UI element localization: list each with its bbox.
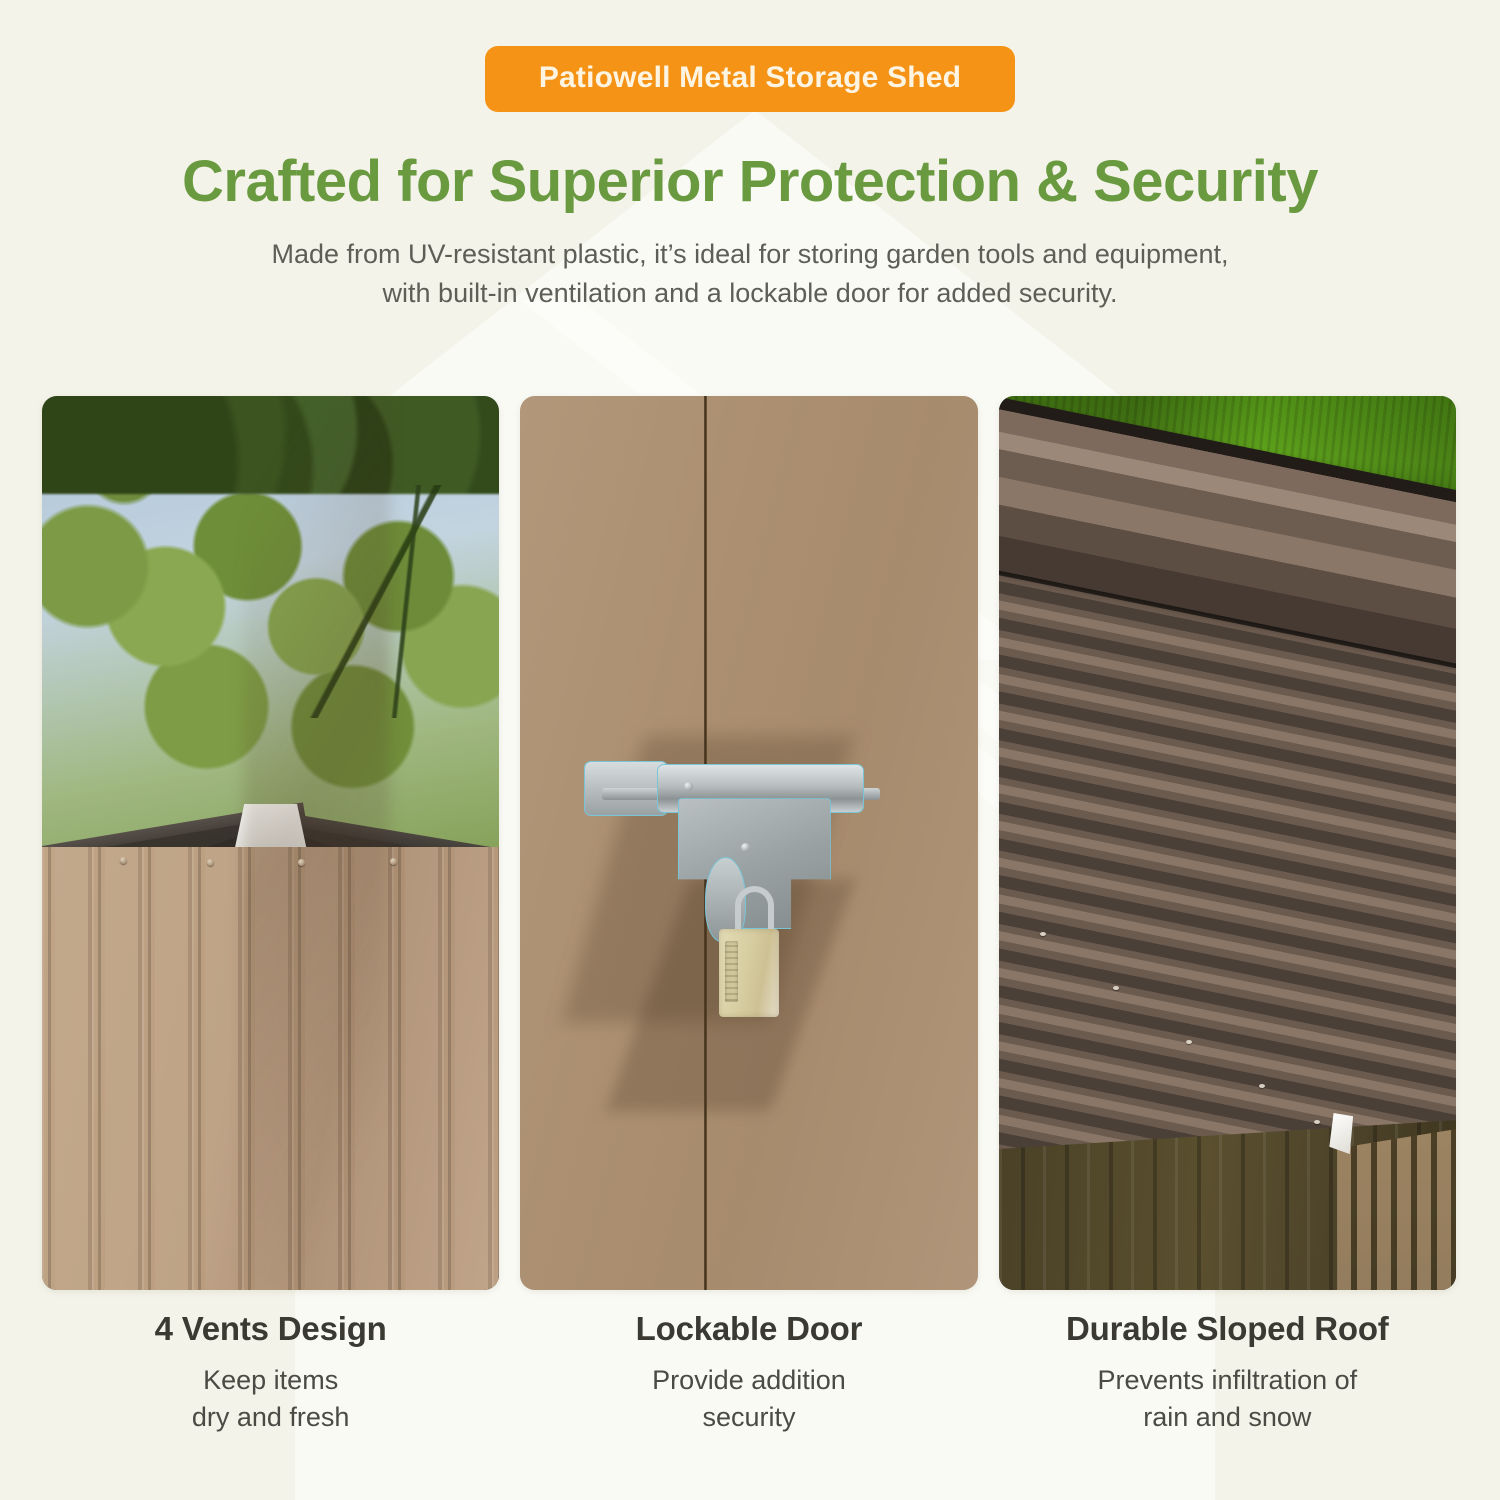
subtitle-line-1: Made from UV-resistant plastic, it’s ide… bbox=[160, 235, 1340, 274]
caption-line-2: rain and snow bbox=[999, 1399, 1456, 1436]
header-section: Patiowell Metal Storage Shed Crafted for… bbox=[0, 0, 1500, 313]
rivet-icon bbox=[390, 858, 397, 865]
caption-title: Lockable Door bbox=[520, 1310, 977, 1348]
roof-screw-icon bbox=[1186, 1040, 1192, 1044]
padlock-dials bbox=[725, 941, 738, 1002]
caption-sloped-roof: Durable Sloped Roof Prevents infiltratio… bbox=[999, 1310, 1456, 1437]
brand-badge: Patiowell Metal Storage Shed bbox=[485, 46, 1015, 112]
caption-title: Durable Sloped Roof bbox=[999, 1310, 1456, 1348]
rivet-icon bbox=[120, 857, 127, 864]
shed-gable-scene bbox=[42, 396, 499, 1290]
caption-line-2: dry and fresh bbox=[42, 1399, 499, 1436]
caption-subtext: Provide addition security bbox=[520, 1362, 977, 1437]
caption-line-1: Prevents infiltration of bbox=[999, 1362, 1456, 1399]
feature-caption-row: 4 Vents Design Keep items dry and fresh … bbox=[42, 1310, 1456, 1437]
door-latch-scene bbox=[520, 396, 977, 1290]
feature-image-vents bbox=[42, 396, 499, 1290]
rivet-icon bbox=[207, 859, 214, 866]
wall-shadow bbox=[243, 396, 389, 1290]
sloped-roof-scene bbox=[999, 396, 1456, 1290]
caption-line-1: Provide addition bbox=[520, 1362, 977, 1399]
caption-title: 4 Vents Design bbox=[42, 1310, 499, 1348]
feature-image-row bbox=[42, 396, 1456, 1290]
feature-image-lockable-door bbox=[520, 396, 977, 1290]
caption-line-2: security bbox=[520, 1399, 977, 1436]
feature-image-sloped-roof bbox=[999, 396, 1456, 1290]
page-title: Crafted for Superior Protection & Securi… bbox=[0, 152, 1500, 213]
subtitle-line-2: with built-in ventilation and a lockable… bbox=[160, 274, 1340, 313]
brand-badge-wrap: Patiowell Metal Storage Shed bbox=[0, 0, 1500, 112]
page-subtitle: Made from UV-resistant plastic, it’s ide… bbox=[160, 235, 1340, 313]
caption-vents: 4 Vents Design Keep items dry and fresh bbox=[42, 1310, 499, 1437]
caption-line-1: Keep items bbox=[42, 1362, 499, 1399]
shed-front-wall bbox=[1337, 1129, 1456, 1290]
caption-subtext: Keep items dry and fresh bbox=[42, 1362, 499, 1437]
corner-cap-icon bbox=[1329, 1113, 1353, 1154]
combination-padlock-icon bbox=[719, 919, 778, 1017]
caption-lockable-door: Lockable Door Provide addition security bbox=[520, 1310, 977, 1437]
roof-screw-icon bbox=[1113, 986, 1119, 990]
caption-subtext: Prevents infiltration of rain and snow bbox=[999, 1362, 1456, 1437]
